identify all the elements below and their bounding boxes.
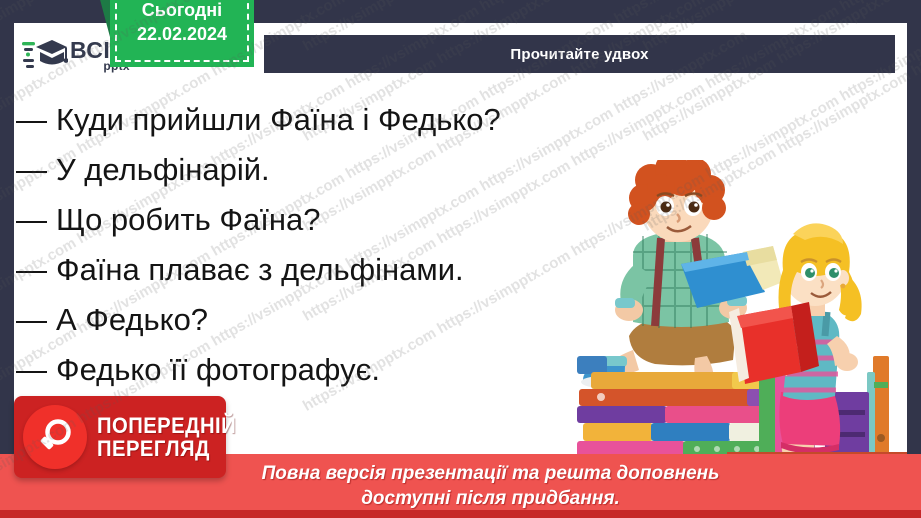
em-dash: — (16, 352, 47, 387)
badge-label: Сьогодні (142, 0, 222, 21)
dialogue-line: —Фаїна плаває з дельфінами. (14, 245, 714, 295)
page-title: Прочитайте удвох (510, 46, 648, 63)
banner-line-2: доступні після придбання. (262, 486, 720, 511)
dialogue-line-text: Що робить Фаїна? (56, 202, 320, 237)
graduation-cap-icon (22, 35, 68, 75)
dialogue-line-text: У дельфінарій. (56, 152, 270, 187)
em-dash: — (16, 152, 47, 187)
badge-date: 22.02.2024 (137, 24, 227, 45)
banner-line-1: Повна версія презентації та решта доповн… (262, 461, 720, 486)
magnifier-icon (35, 417, 75, 457)
dialogue-line-text: Куди прийшли Фаїна і Федько? (56, 102, 501, 137)
dialogue-line-text: Федько її фотографує. (56, 352, 380, 387)
dialogue-text-block: —Куди прийшли Фаїна і Федько? —У дельфін… (14, 95, 714, 395)
em-dash: — (16, 102, 47, 137)
preview-badge-labels: ПОПЕРЕДНІЙ ПЕРЕГЛЯД (97, 414, 248, 460)
dialogue-line: —А Федько? (14, 295, 714, 345)
preview-label-line-2: ПЕРЕГЛЯД (97, 437, 236, 460)
dialogue-line-text: Фаїна плаває з дельфінами. (56, 252, 464, 287)
dialogue-line-text: А Федько? (56, 302, 208, 337)
magnifier-icon-circle (23, 405, 87, 469)
dialogue-line: —У дельфінарій. (14, 145, 714, 195)
slide-title-bar: Прочитайте удвох (264, 35, 895, 73)
preview-label-line-1: ПОПЕРЕДНІЙ (97, 414, 236, 437)
dialogue-line: —Куди прийшли Фаїна і Федько? (14, 95, 714, 145)
slide-frame: —Куди прийшли Фаїна і Федько? —У дельфін… (0, 0, 921, 518)
today-date-badge: Сьогодні 22.02.2024 (94, 0, 254, 67)
dialogue-line: —Федько її фотографує. (14, 345, 714, 395)
badge-body: Сьогодні 22.02.2024 (110, 0, 254, 67)
banner-text-block: Повна версія презентації та решта доповн… (202, 461, 720, 511)
preview-badge[interactable]: ПОПЕРЕДНІЙ ПЕРЕГЛЯД (14, 396, 226, 478)
em-dash: — (16, 202, 47, 237)
em-dash: — (16, 252, 47, 287)
em-dash: — (16, 302, 47, 337)
dialogue-line: —Що робить Фаїна? (14, 195, 714, 245)
